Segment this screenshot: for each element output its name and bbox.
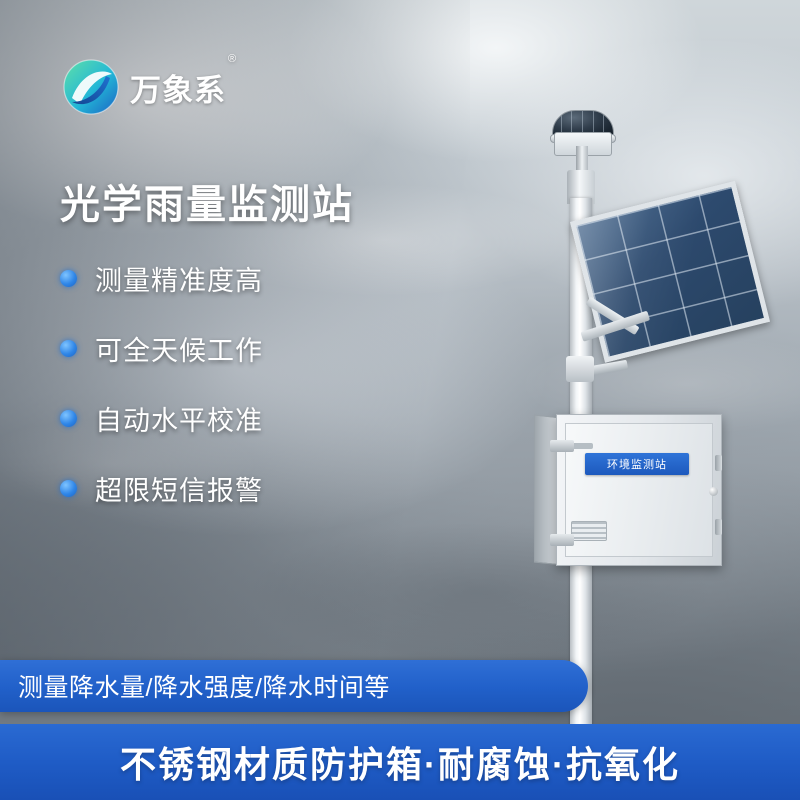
enclosure-vent: [571, 521, 607, 541]
product-poster: 万象系® 光学雨量监测站 测量精准度高 可全天候工作 自动水平校准 超限短信报警: [0, 0, 800, 800]
feature-list: 测量精准度高 可全天候工作 自动水平校准 超限短信报警: [60, 258, 263, 538]
enclosure-hinge-bottom: [715, 519, 722, 535]
bottom-banner-text: 不锈钢材质防护箱·耐腐蚀·抗氧化: [120, 736, 680, 788]
swirl-logo-icon: [62, 58, 120, 116]
swirl-logo-svg: [62, 58, 120, 116]
feature-label: 超限短信报警: [95, 469, 263, 508]
feature-label: 测量精准度高: [95, 259, 263, 298]
bullet-dot-icon: [60, 340, 77, 357]
enclosure-hinge-top: [715, 455, 722, 471]
bottom-banner: 不锈钢材质防护箱·耐腐蚀·抗氧化: [0, 724, 800, 800]
list-item: 测量精准度高: [60, 258, 263, 298]
bullet-dot-icon: [60, 410, 77, 427]
bullet-dot-icon: [60, 270, 77, 287]
pole-clamp-upper: [550, 440, 574, 452]
equipment-enclosure-icon: 环境监测站: [556, 414, 722, 566]
enclosure-label-text: 环境监测站: [607, 456, 667, 472]
feature-label: 自动水平校准: [95, 399, 263, 438]
trademark-symbol: ®: [228, 53, 237, 65]
measurement-ribbon-text: 测量降水量/降水强度/降水时间等: [18, 668, 390, 704]
brand-name: 万象系®: [130, 65, 235, 110]
enclosure-label-badge: 环境监测站: [585, 453, 689, 475]
list-item: 可全天候工作: [60, 328, 263, 368]
bullet-dot-icon: [60, 480, 77, 497]
panel-mount-block: [566, 356, 594, 382]
pole-clamp-lower: [550, 534, 574, 546]
feature-label: 可全天候工作: [95, 329, 263, 368]
brand-name-text: 万象系: [130, 73, 226, 108]
enclosure-slot: [571, 443, 593, 449]
brand-logo: 万象系®: [62, 58, 235, 116]
page-title: 光学雨量监测站: [60, 172, 354, 230]
list-item: 自动水平校准: [60, 398, 263, 438]
enclosure-lock-icon: [709, 487, 718, 496]
list-item: 超限短信报警: [60, 468, 263, 508]
measurement-ribbon: 测量降水量/降水强度/降水时间等: [0, 660, 588, 712]
